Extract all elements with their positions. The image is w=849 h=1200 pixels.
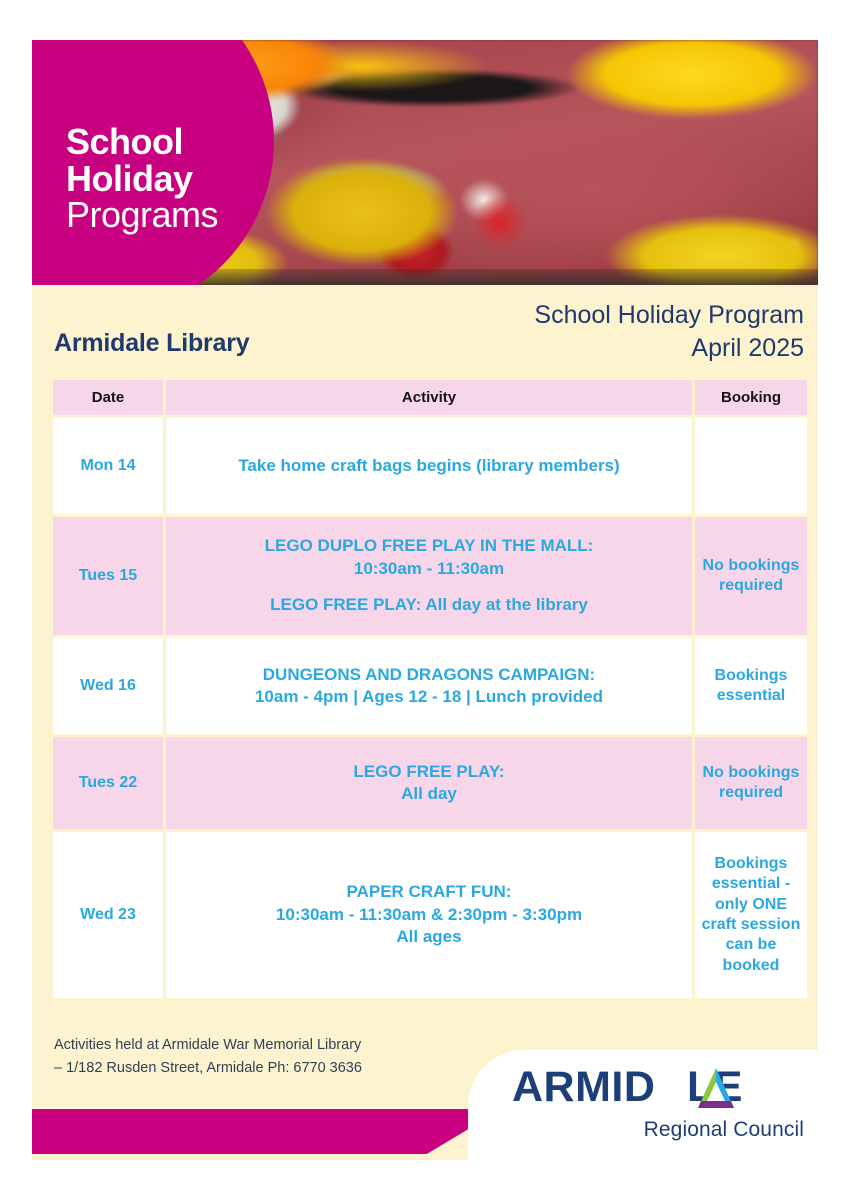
logo-word-a-placeholder: A: [655, 1063, 687, 1111]
cell-booking: No bookings required: [695, 737, 807, 829]
activity-line: Take home craft bags begins (library mem…: [172, 455, 686, 477]
cell-date: Tues 15: [53, 517, 163, 635]
table-header-row: Date Activity Booking: [53, 380, 807, 415]
activity-line: 10am - 4pm | Ages 12 - 18 | Lunch provid…: [172, 686, 686, 708]
cell-booking: Bookings essential - only ONE craft sess…: [695, 832, 807, 998]
footer: Activities held at Armidale War Memorial…: [32, 1028, 818, 1160]
cell-activity: Take home craft bags begins (library mem…: [166, 418, 692, 514]
program-month: April 2025: [534, 332, 804, 365]
table-row: Tues 22 LEGO FREE PLAY: All day No booki…: [53, 737, 807, 829]
venue-line1: Activities held at Armidale War Memorial…: [54, 1034, 362, 1057]
flyer-page: School Holiday Programs Armidale Library…: [32, 40, 818, 1160]
cell-activity: PAPER CRAFT FUN: 10:30am - 11:30am & 2:3…: [166, 832, 692, 998]
venue-line2: – 1/182 Rusden Street, Armidale Ph: 6770…: [54, 1057, 362, 1080]
table-row: Mon 14 Take home craft bags begins (libr…: [53, 418, 807, 514]
column-header-activity: Activity: [166, 380, 692, 415]
cell-date: Wed 16: [53, 638, 163, 734]
header-block: Armidale Library School Holiday Program …: [32, 285, 818, 377]
cell-activity: LEGO FREE PLAY: All day: [166, 737, 692, 829]
table-row: Tues 15 LEGO DUPLO FREE PLAY IN THE MALL…: [53, 517, 807, 635]
column-header-date: Date: [53, 380, 163, 415]
cell-activity: LEGO DUPLO FREE PLAY IN THE MALL: 10:30a…: [166, 517, 692, 635]
activity-line: 10:30am - 11:30am & 2:30pm - 3:30pm: [172, 904, 686, 926]
magenta-footer-bar: [32, 1109, 502, 1154]
triangle-a-icon: [694, 1068, 738, 1108]
program-subtitle: School Holiday Program April 2025: [534, 299, 804, 365]
cell-booking: No bookings required: [695, 517, 807, 635]
cell-activity: DUNGEONS AND DRAGONS CAMPAIGN: 10am - 4p…: [166, 638, 692, 734]
cell-booking: [695, 418, 807, 514]
activity-line: LEGO FREE PLAY:: [172, 761, 686, 783]
cell-date: Tues 22: [53, 737, 163, 829]
cell-booking: Bookings essential: [695, 638, 807, 734]
hero-title-line2: Holiday: [66, 161, 218, 198]
hero-title: School Holiday Programs: [66, 124, 218, 234]
venue-details: Activities held at Armidale War Memorial…: [54, 1034, 362, 1081]
activity-line: DUNGEONS AND DRAGONS CAMPAIGN:: [172, 664, 686, 686]
hero-title-line1: School: [66, 124, 218, 161]
table-row: Wed 16 DUNGEONS AND DRAGONS CAMPAIGN: 10…: [53, 638, 807, 734]
activity-line: All day: [172, 783, 686, 805]
activity-line: All ages: [172, 926, 686, 948]
activity-spacer: [172, 580, 686, 594]
program-label: School Holiday Program: [534, 299, 804, 332]
armidale-regional-council-logo: ARMIDALE Regional Council: [512, 1066, 804, 1142]
cell-date: Mon 14: [53, 418, 163, 514]
logo-subtitle: Regional Council: [644, 1118, 804, 1142]
activity-line: LEGO FREE PLAY: All day at the library: [172, 594, 686, 616]
cell-date: Wed 23: [53, 832, 163, 998]
table-row: Wed 23 PAPER CRAFT FUN: 10:30am - 11:30a…: [53, 832, 807, 998]
column-header-booking: Booking: [695, 380, 807, 415]
hero-title-line3: Programs: [66, 197, 218, 234]
logo-word-before: ARMID: [512, 1063, 655, 1111]
program-table: Date Activity Booking Mon 14 Take home c…: [50, 377, 810, 1001]
logo-panel: ARMIDALE Regional Council: [468, 1050, 818, 1160]
hero-banner: School Holiday Programs: [32, 40, 818, 285]
activity-line: PAPER CRAFT FUN:: [172, 881, 686, 903]
activity-line: LEGO DUPLO FREE PLAY IN THE MALL:: [172, 535, 686, 557]
page-title: Armidale Library: [54, 329, 249, 358]
activity-line: 10:30am - 11:30am: [172, 558, 686, 580]
